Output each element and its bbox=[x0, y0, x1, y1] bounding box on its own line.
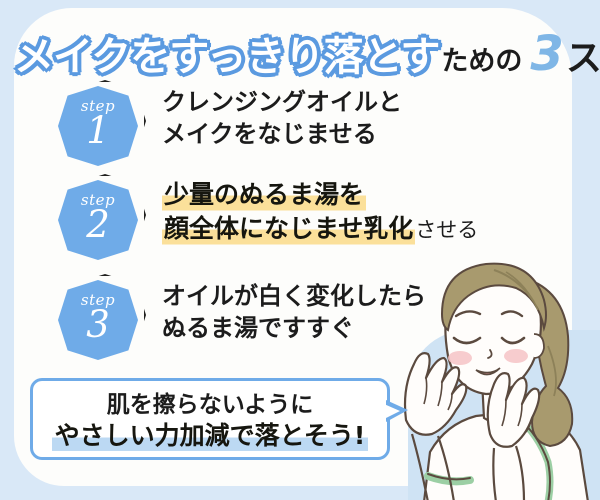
step-badge-3: step 3 bbox=[58, 278, 144, 364]
title-number: 3 bbox=[530, 26, 561, 82]
title-tail-text: ステップ bbox=[566, 38, 600, 79]
step-2-line-2: 顔全体になじませ乳化 bbox=[162, 212, 415, 246]
callout-line-2: やさしい力加減で落とそう! bbox=[52, 420, 369, 452]
badge-step-number: 3 bbox=[58, 306, 138, 345]
callout-text: 肌を擦らないように やさしい力加減で落とそう! bbox=[33, 390, 387, 452]
step-2-text: 少量のぬるま湯を 顔全体になじませ乳化させる bbox=[162, 178, 562, 246]
infographic-canvas: メイクをすっきり落とすための3ステップ step 1 クレンジングオイルと メイ… bbox=[0, 0, 600, 500]
badge-shape-icon: step 1 bbox=[58, 86, 138, 166]
step-1-line-2: メイクをなじませる bbox=[162, 118, 562, 150]
title-main-text: メイクをすっきり落とす bbox=[14, 34, 439, 80]
step-row-1: step 1 クレンジングオイルと メイクをなじませる bbox=[58, 84, 558, 176]
callout-tail-inner-icon bbox=[384, 404, 400, 419]
callout-line-1: 肌を擦らないように bbox=[33, 390, 387, 420]
callout-box: 肌を擦らないように やさしい力加減で落とそう! bbox=[30, 378, 390, 460]
title-mid-text: ための bbox=[441, 46, 522, 77]
badge-step-number: 1 bbox=[58, 112, 138, 151]
step-badge-1: step 1 bbox=[58, 84, 144, 170]
woman-washing-face-illustration bbox=[398, 238, 600, 500]
badge-step-number: 2 bbox=[58, 206, 138, 245]
badge-shape-icon: step 2 bbox=[58, 180, 138, 260]
page-title: メイクをすっきり落とすための3ステップ bbox=[14, 26, 594, 82]
step-1-line-1: クレンジングオイルと bbox=[162, 86, 562, 118]
step-2-line-1: 少量のぬるま湯を bbox=[162, 178, 366, 212]
step-1-text: クレンジングオイルと メイクをなじませる bbox=[162, 86, 562, 150]
step-badge-2: step 2 bbox=[58, 178, 144, 264]
badge-shape-icon: step 3 bbox=[58, 280, 138, 360]
